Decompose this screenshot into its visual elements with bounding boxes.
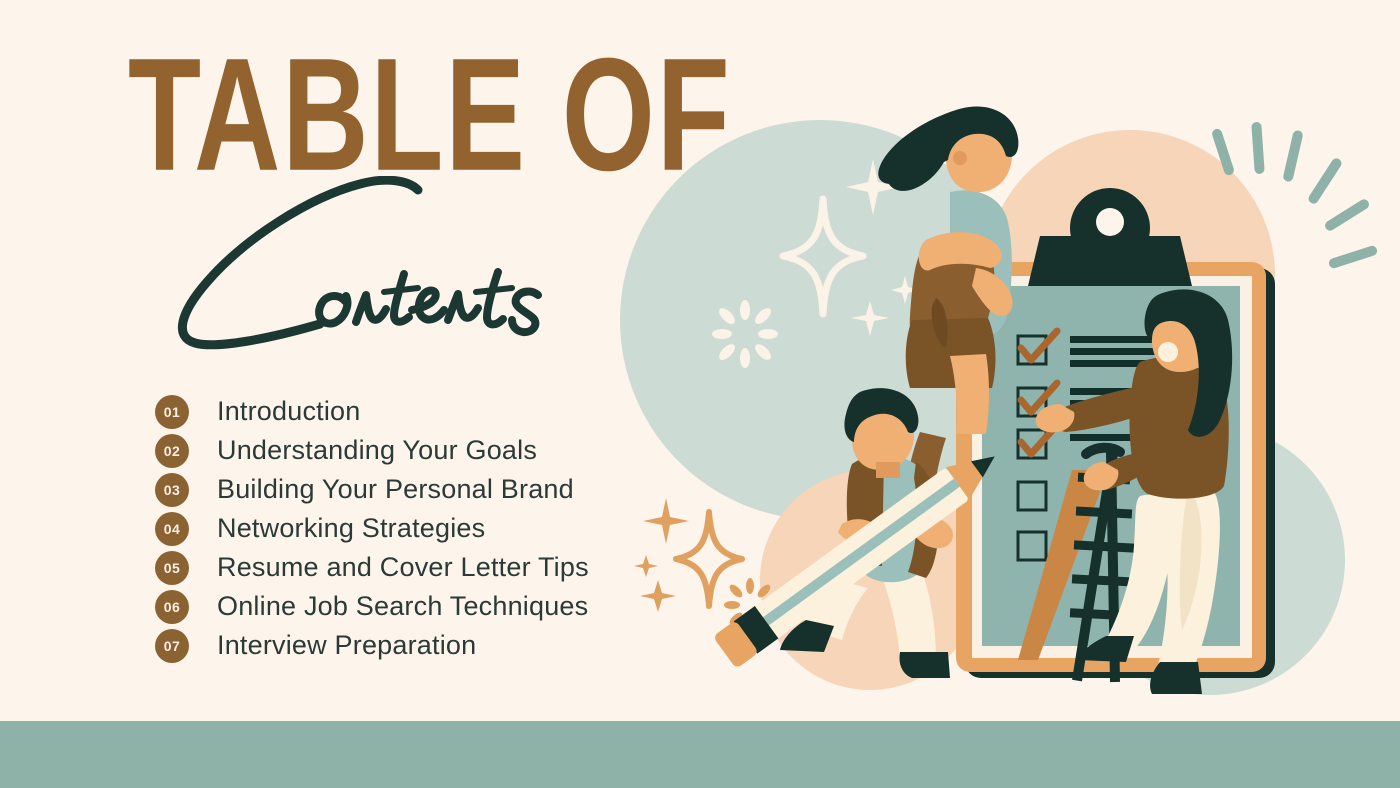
list-item[interactable]: 02 Understanding Your Goals <box>155 431 589 470</box>
toc-item-label: Introduction <box>217 396 361 427</box>
toc-number-badge: 07 <box>155 629 189 663</box>
toc-number-badge: 03 <box>155 473 189 507</box>
left-content-column: TABLE OF Contents <box>0 0 640 721</box>
bottom-accent-band <box>0 721 1400 788</box>
toc-number-badge: 05 <box>155 551 189 585</box>
list-item[interactable]: 04 Networking Strategies <box>155 509 589 548</box>
toc-item-label: Online Job Search Techniques <box>217 591 588 622</box>
toc-number-badge: 01 <box>155 395 189 429</box>
toc-item-label: Networking Strategies <box>217 513 485 544</box>
page-title-script: Contents <box>150 176 620 351</box>
list-item[interactable]: 03 Building Your Personal Brand <box>155 470 589 509</box>
table-of-contents-list: 01 Introduction 02 Understanding Your Go… <box>155 392 589 665</box>
toc-item-label: Understanding Your Goals <box>217 435 537 466</box>
list-item[interactable]: 06 Online Job Search Techniques <box>155 587 589 626</box>
list-item[interactable]: 07 Interview Preparation <box>155 626 589 665</box>
list-item[interactable]: 05 Resume and Cover Letter Tips <box>155 548 589 587</box>
slide-canvas: TABLE OF Contents <box>0 0 1400 788</box>
toc-number-badge: 02 <box>155 434 189 468</box>
toc-item-label: Resume and Cover Letter Tips <box>217 552 589 583</box>
clipboard-checklist-illustration <box>620 0 1400 721</box>
list-item[interactable]: 01 Introduction <box>155 392 589 431</box>
toc-item-label: Interview Preparation <box>217 630 476 661</box>
toc-number-badge: 04 <box>155 512 189 546</box>
toc-number-badge: 06 <box>155 590 189 624</box>
toc-item-label: Building Your Personal Brand <box>217 474 574 505</box>
